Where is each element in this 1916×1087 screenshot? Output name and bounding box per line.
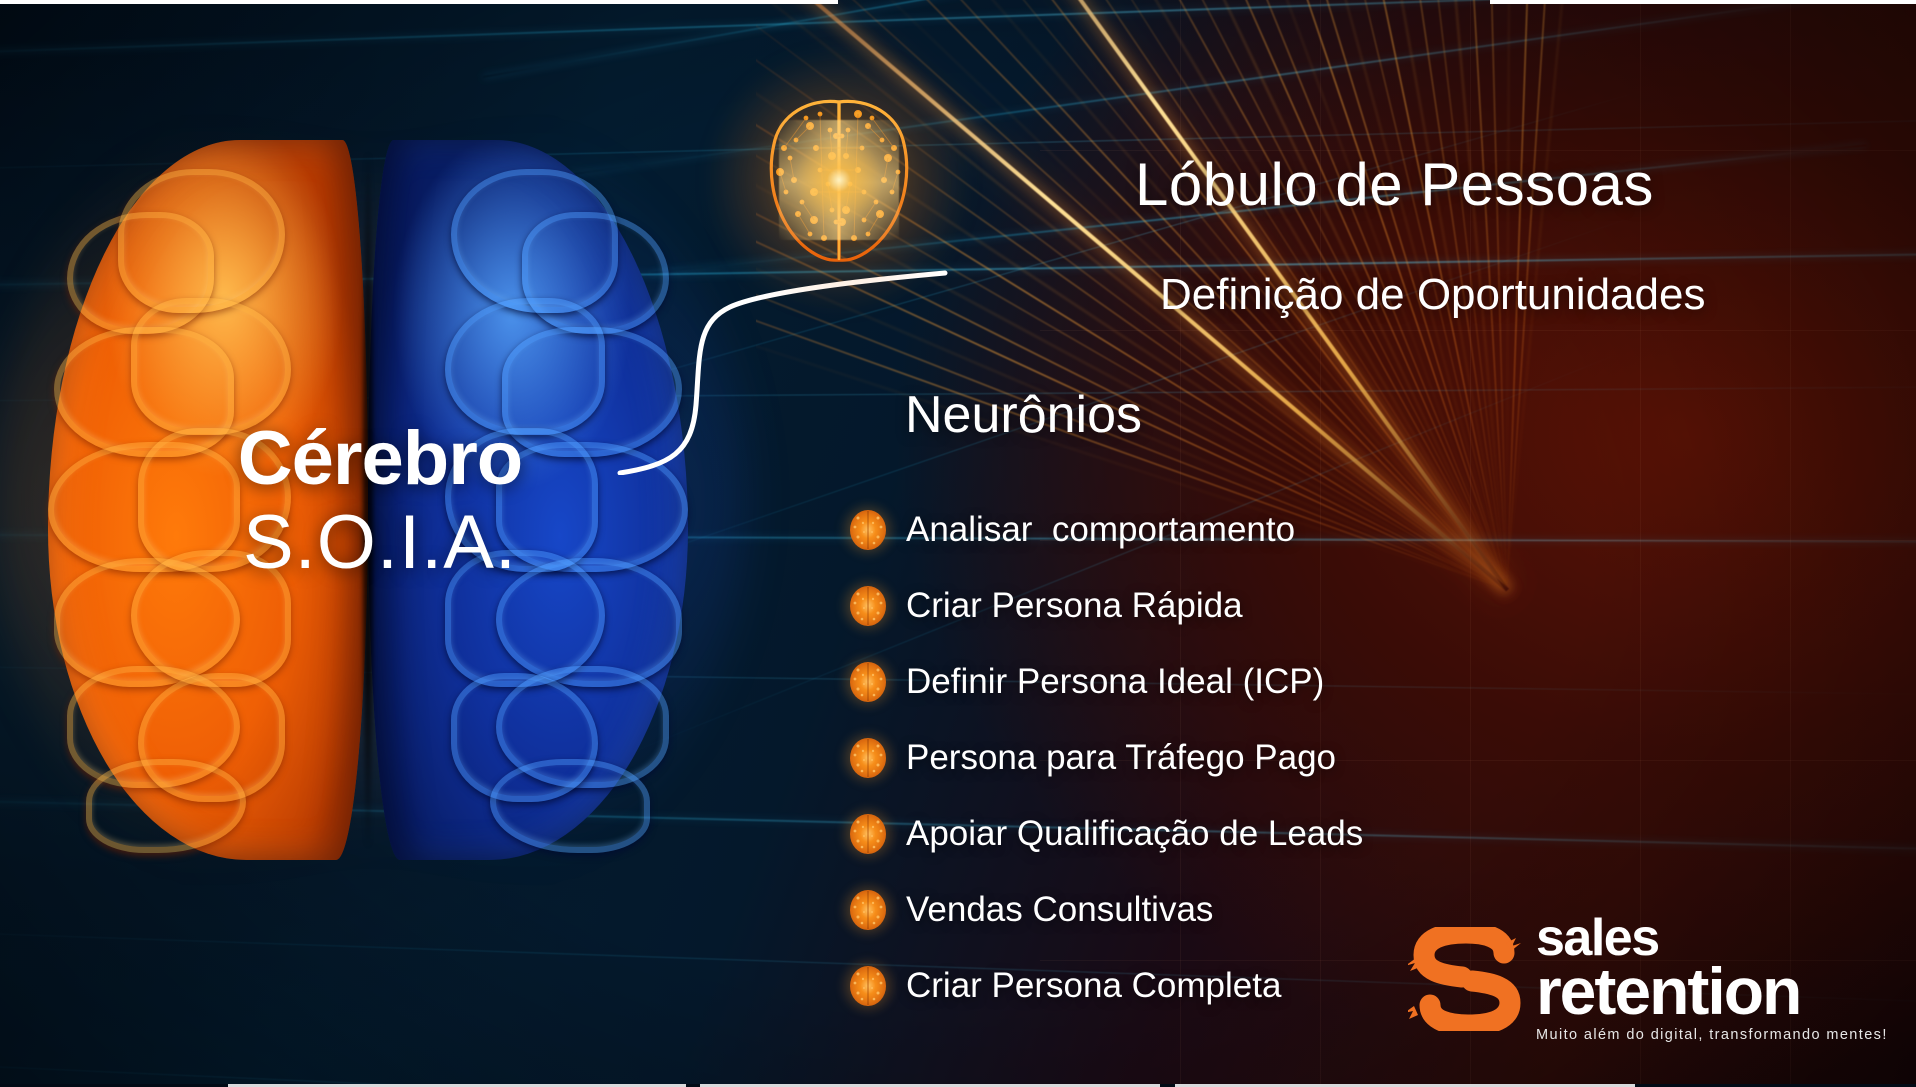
list-item-label: Persona para Tráfego Pago <box>906 738 1336 778</box>
neural-network-brain-icon <box>750 92 928 268</box>
logo-wordmark: sales retention Muito além do digital, t… <box>1536 915 1888 1043</box>
sales-retention-s-magnet-icon <box>1408 927 1526 1031</box>
neural-icon-core-spark <box>779 120 899 240</box>
brain-bullet-icon <box>848 737 888 779</box>
brain-bullet-icon <box>848 965 888 1007</box>
brain-bullet-icon <box>848 661 888 703</box>
list-item: Criar Persona Rápida <box>848 568 1363 644</box>
brain-bullet-icon <box>848 889 888 931</box>
slide-canvas: Cérebro S.O.I.A. Lóbulo de Pessoas Defin… <box>0 0 1916 1087</box>
list-item: Vendas Consultivas <box>848 872 1363 948</box>
list-item-label: Criar Persona Completa <box>906 966 1281 1006</box>
list-item: Persona para Tráfego Pago <box>848 720 1363 796</box>
neuron-bullet-list: Analisar comportamento Criar Persona Ráp… <box>848 492 1363 1024</box>
list-item: Analisar comportamento <box>848 492 1363 568</box>
brain-bullet-icon <box>848 585 888 627</box>
list-item-label: Vendas Consultivas <box>906 890 1213 930</box>
brain-bullet-icon <box>848 509 888 551</box>
page-title: Lóbulo de Pessoas <box>1135 150 1654 219</box>
list-item: Criar Persona Completa <box>848 948 1363 1024</box>
sales-retention-logo: sales retention Muito além do digital, t… <box>1408 908 1878 1050</box>
list-item-label: Criar Persona Rápida <box>906 586 1243 626</box>
brain-label-line1: Cérebro <box>150 420 610 498</box>
list-item-label: Apoiar Qualificação de Leads <box>906 814 1363 854</box>
list-item: Apoiar Qualificação de Leads <box>848 796 1363 872</box>
logo-word-retention: retention <box>1536 961 1888 1022</box>
brain-bullet-icon <box>848 813 888 855</box>
capture-edge-top-left <box>0 0 838 4</box>
list-item-label: Analisar comportamento <box>906 510 1295 550</box>
brain-label-line2: S.O.I.A. <box>150 504 610 582</box>
section-heading-neuronios: Neurônios <box>905 385 1142 445</box>
brain-label: Cérebro S.O.I.A. <box>150 420 610 581</box>
list-item-label: Definir Persona Ideal (ICP) <box>906 662 1324 702</box>
list-item: Definir Persona Ideal (ICP) <box>848 644 1363 720</box>
capture-edge-top-right <box>1490 0 1916 4</box>
logo-tagline: Muito além do digital, transformando men… <box>1536 1027 1888 1043</box>
page-subtitle: Definição de Oportunidades <box>1160 270 1705 320</box>
